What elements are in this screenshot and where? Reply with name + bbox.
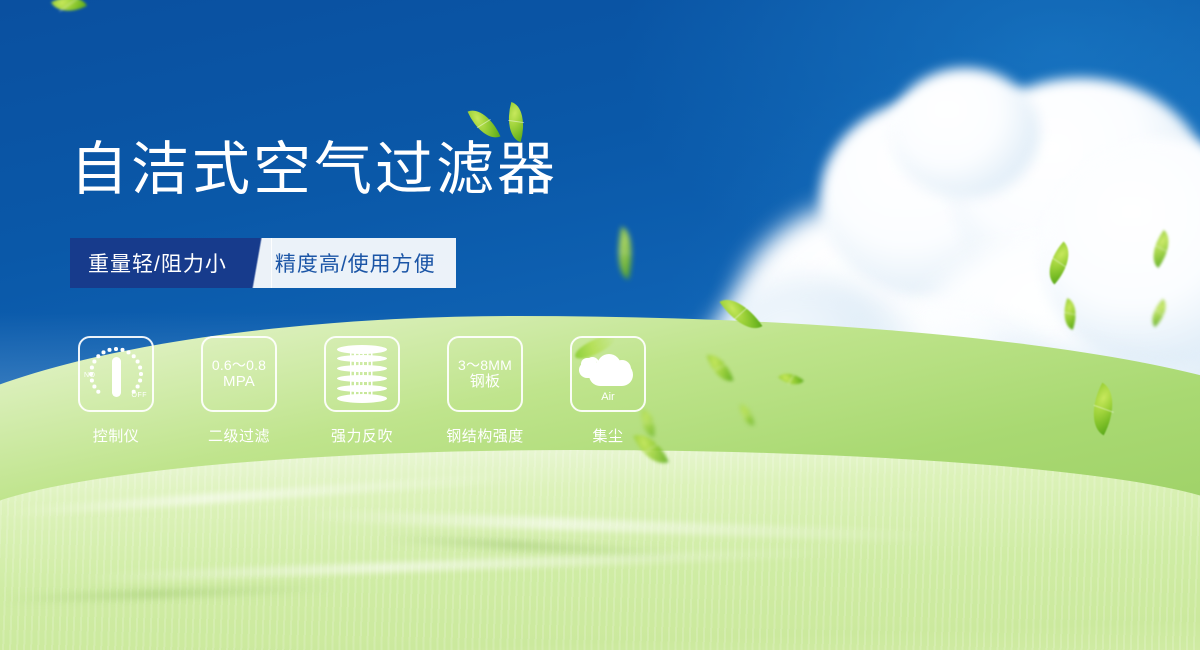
- subtitle-bar: 重量轻/阻力小 精度高/使用方便: [70, 238, 456, 288]
- sprout-leaf-right: [501, 102, 530, 142]
- feature-label: 二级过滤: [208, 425, 270, 446]
- feature-label: 强力反吹: [331, 425, 393, 446]
- leaf-floating: [611, 227, 639, 280]
- leaf-floating: [1145, 299, 1173, 327]
- pressure-unit-text: MPA: [223, 373, 255, 390]
- grass-foreground: [0, 450, 1200, 650]
- feature-label: 集尘: [592, 425, 623, 446]
- product-banner: 自洁式空气过滤器 重量轻/阻力小 精度高/使用方便: [0, 0, 1200, 650]
- feature-box: NO OFF: [78, 336, 154, 412]
- feature-label: 控制仪: [93, 425, 140, 446]
- subtitle-right-block: 精度高/使用方便: [271, 238, 456, 288]
- feature-box: [324, 336, 400, 412]
- sprout-leaf-left: [468, 103, 501, 144]
- gauge-label-off: OFF: [132, 392, 148, 399]
- subtitle-left-block: 重量轻/阻力小: [70, 238, 247, 288]
- title-block: 自洁式空气过滤器: [70, 140, 558, 198]
- feature-item-two-stage-filter[interactable]: 0.6〜0.8 MPA 二级过滤: [201, 336, 277, 446]
- feature-box: 0.6〜0.8 MPA: [201, 336, 277, 412]
- sprout-leaves-icon: [470, 102, 540, 148]
- feature-label: 钢结构强度: [446, 425, 524, 446]
- air-label: Air: [577, 391, 639, 403]
- leaf-floating: [1144, 230, 1179, 268]
- feature-box: 3〜8MM 钢板: [447, 336, 523, 412]
- pressure-range-text: 0.6〜0.8: [212, 357, 266, 373]
- feature-item-dust-collection[interactable]: Air 集尘: [570, 336, 646, 446]
- feature-item-backblow[interactable]: 强力反吹: [324, 336, 400, 446]
- feature-box: Air: [570, 336, 646, 412]
- subtitle-divider: [246, 238, 272, 288]
- leaf-floating: [51, 0, 87, 20]
- leaf-floating: [1038, 242, 1080, 285]
- steel-plate-text: 钢板: [470, 373, 500, 390]
- gauge-icon: NO OFF: [85, 345, 147, 403]
- feature-list: NO OFF 控制仪 0.6〜0.8 MPA 二级过滤: [78, 336, 646, 446]
- cloud-air-icon: Air: [577, 348, 639, 400]
- steel-thickness-text: 3〜8MM: [458, 357, 512, 373]
- gauge-label-no: NO: [84, 372, 96, 379]
- page-title: 自洁式空气过滤器: [70, 140, 558, 198]
- leaf-floating: [1058, 298, 1083, 330]
- pleated-filter-icon: [337, 345, 387, 403]
- feature-item-controller[interactable]: NO OFF 控制仪: [78, 336, 154, 446]
- feature-item-steel-strength[interactable]: 3〜8MM 钢板 钢结构强度: [447, 336, 523, 446]
- gauge-needle: [112, 357, 121, 397]
